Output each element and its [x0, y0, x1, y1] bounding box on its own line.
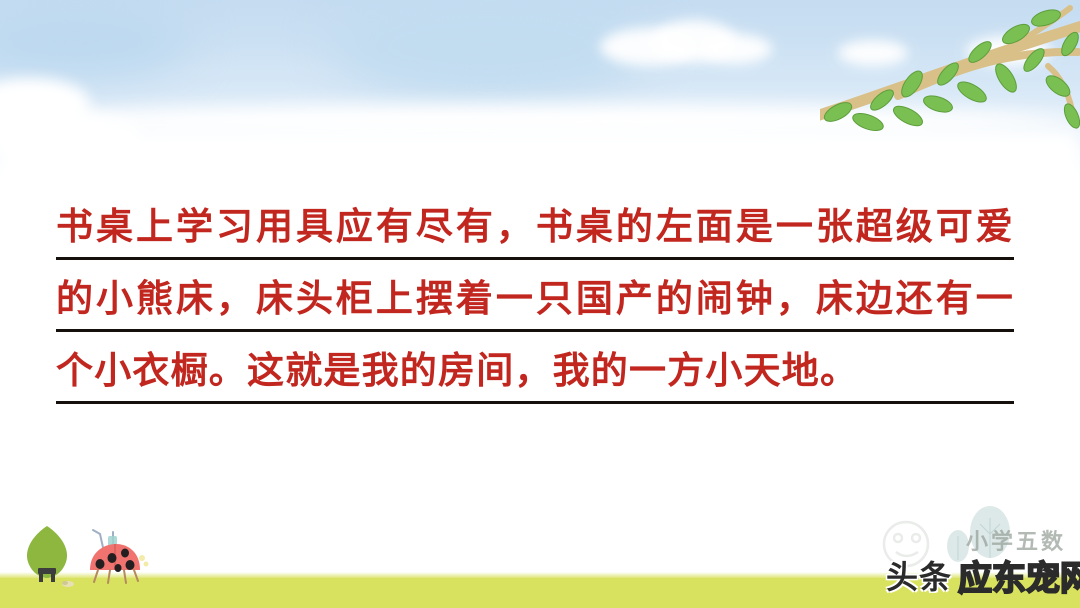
passage-line-2-text: 的小熊床，床头柜上摆着一只国产的闹钟，床边还有一 — [56, 278, 1014, 322]
ladybug-decoration — [80, 528, 152, 586]
channel-watermark: 应东宠网吗 — [958, 551, 1080, 600]
cloud-top-c — [700, 34, 772, 64]
branch-icon — [820, 0, 1080, 150]
passage-line: 个小衣橱。这就是我的房间，我的一方小天地。 — [56, 332, 1018, 404]
passage-line-3-underline — [56, 401, 1014, 404]
pebble-icon — [61, 579, 75, 587]
passage-line-3-text: 个小衣橱。这就是我的房间，我的一方小天地。 — [56, 350, 1014, 394]
ladybug-icon — [80, 528, 152, 586]
pebble-decoration — [61, 574, 75, 582]
passage-line: 的小熊床，床头柜上摆着一只国产的闹钟，床边还有一 — [56, 260, 1018, 332]
passage-text-block: 书桌上学习用具应有尽有，书桌的左面是一张超级可爱 的小熊床，床头柜上摆着一只国产… — [56, 188, 1018, 404]
passage-line: 书桌上学习用具应有尽有，书桌的左面是一张超级可爱 — [56, 188, 1018, 260]
platform-watermark: 头条 — [886, 552, 952, 598]
tree-branch-decoration — [820, 0, 1080, 150]
slide-canvas: 书桌上学习用具应有尽有，书桌的左面是一张超级可爱 的小熊床，床头柜上摆着一只国产… — [0, 0, 1080, 608]
passage-line-1-text: 书桌上学习用具应有尽有，书桌的左面是一张超级可爱 — [56, 206, 1014, 250]
